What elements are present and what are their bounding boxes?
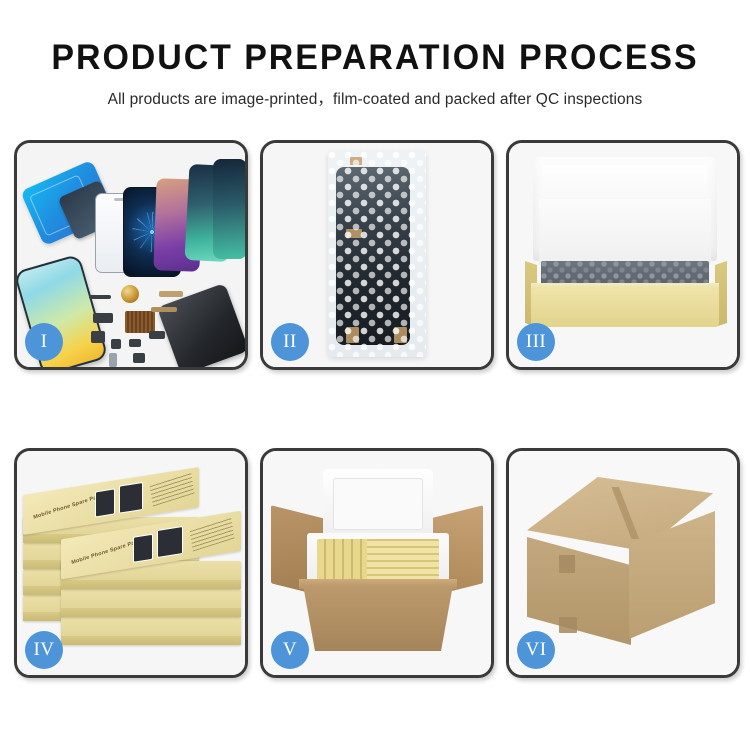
step-badge-1: I xyxy=(25,323,63,361)
box-spec-lines-left xyxy=(150,472,195,506)
step-badge-2: II xyxy=(271,323,309,361)
product-preparation-infographic: PRODUCT PREPARATION PROCESS All products… xyxy=(0,0,750,750)
box-window-right-1 xyxy=(133,534,153,563)
bubble-wrap-package xyxy=(328,151,426,357)
retail-box-label-left: Mobile Phone Spare Parts xyxy=(33,493,104,521)
part-flex-strip xyxy=(89,295,111,299)
packed-retail-boxes-row-2 xyxy=(367,539,439,581)
phone-display-teal-2 xyxy=(213,159,245,259)
step-badge-5: V xyxy=(271,631,309,669)
part-connector xyxy=(129,339,141,347)
box-edge xyxy=(61,580,241,589)
step-4-illustration: Mobile Phone Spare Parts Mobile Phone Sp… xyxy=(17,451,245,675)
step-2-illustration: II xyxy=(263,143,491,367)
foam-sheet xyxy=(539,199,711,265)
step-1-illustration: I xyxy=(17,143,245,367)
part-button xyxy=(111,339,121,349)
part-camera xyxy=(93,313,113,323)
part-vibrator xyxy=(133,353,145,363)
step-panel-5: V xyxy=(260,448,494,678)
page-subtitle: All products are image-printed，film-coat… xyxy=(0,87,750,109)
step-6-illustration: VI xyxy=(509,451,737,675)
step-panel-2: II xyxy=(260,140,494,370)
part-bracket xyxy=(91,331,105,343)
step-panel-4: Mobile Phone Spare Parts Mobile Phone Sp… xyxy=(14,448,248,678)
header: PRODUCT PREPARATION PROCESS All products… xyxy=(0,0,750,109)
box-window-left-2 xyxy=(119,482,143,514)
carton-tab-upper xyxy=(559,555,575,573)
part-sensor xyxy=(149,331,165,339)
process-steps-grid: I II xyxy=(14,140,744,678)
box-edge xyxy=(61,608,241,617)
part-flex-cable xyxy=(159,291,183,297)
step-badge-4: IV xyxy=(25,631,63,669)
carton-front-panel xyxy=(303,585,453,651)
box-front-panel xyxy=(531,289,719,327)
page-title: PRODUCT PREPARATION PROCESS xyxy=(11,40,739,75)
step-3-illustration: III xyxy=(509,143,737,367)
logic-board-chip xyxy=(125,311,155,333)
step-badge-6: VI xyxy=(517,631,555,669)
part-sim-tray xyxy=(109,353,117,367)
spare-parts-group xyxy=(89,283,199,363)
step-5-illustration: V xyxy=(263,451,491,675)
foam-cooler-lid xyxy=(323,469,433,539)
retail-box-label-right: Mobile Phone Spare Parts xyxy=(71,538,142,566)
step-panel-3: III xyxy=(506,140,740,370)
box-window-right-2 xyxy=(157,526,183,558)
step-panel-1: I xyxy=(14,140,248,370)
retail-box-right-5 xyxy=(61,617,241,645)
step-panel-6: VI xyxy=(506,448,740,678)
retail-box-right-4 xyxy=(61,589,241,617)
box-window-left-1 xyxy=(95,488,115,517)
speaker-module xyxy=(121,285,139,303)
box-edge xyxy=(61,636,241,645)
part-ribbon-cable xyxy=(151,307,177,312)
step-badge-3: III xyxy=(517,323,555,361)
carton-tab-lower xyxy=(559,617,577,633)
box-spec-lines-right xyxy=(190,517,235,551)
bubble-film-texture xyxy=(328,151,426,357)
